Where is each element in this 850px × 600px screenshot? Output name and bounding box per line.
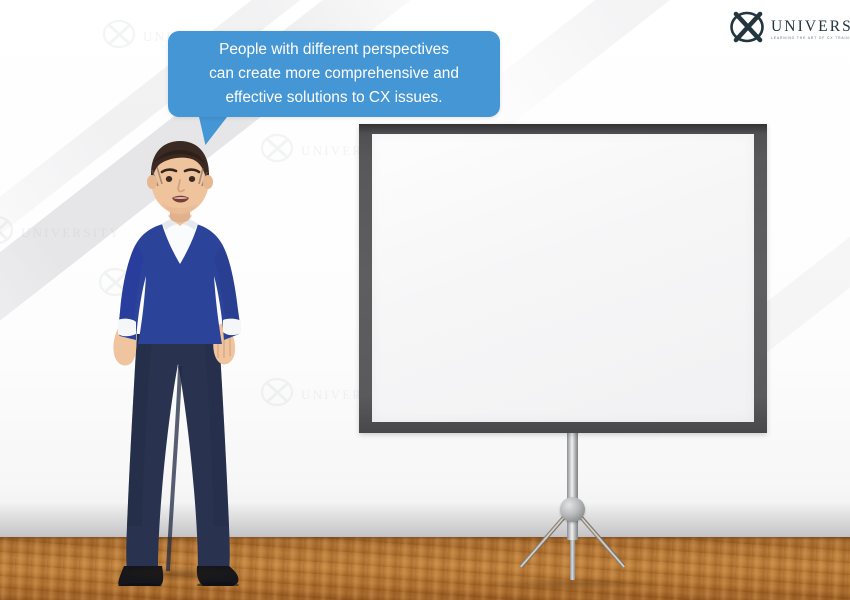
eye-left [166,176,172,182]
ear-right [203,175,213,189]
speech-bubble-tail [195,115,228,145]
ear-left [147,175,157,189]
slide-canvas: UNIVERSITY UNIVERSITY UNIVERSITY UNIVERS… [0,0,850,600]
eye-right [189,176,195,182]
presenter-illustration [96,134,264,586]
tripod-pole [567,428,578,540]
speech-bubble-text: People with different perspectives can c… [193,38,475,111]
character-floor-shadow [104,566,254,582]
speech-bubble: People with different perspectives can c… [168,31,500,117]
speech-line-1: People with different perspectives [219,41,449,58]
speech-line-3: effective solutions to CX issues. [225,89,442,106]
presentation-screen-canvas[interactable] [372,134,754,422]
speech-line-2: can create more comprehensive and [209,65,459,82]
cuff-left [118,319,136,337]
tripod-hub [560,497,585,522]
brand-logo[interactable]: UNIVERSITY LEARNING THE ART OF CX TRAINI… [729,9,850,50]
presentation-screen-frame[interactable] [359,124,767,433]
logo-tagline: LEARNING THE ART OF CX TRAINING [771,37,850,40]
cx-monogram-icon [729,9,769,50]
presenter-character [96,134,264,586]
cuff-right [223,319,241,336]
logo-wordmark: UNIVERSITY [771,19,850,35]
